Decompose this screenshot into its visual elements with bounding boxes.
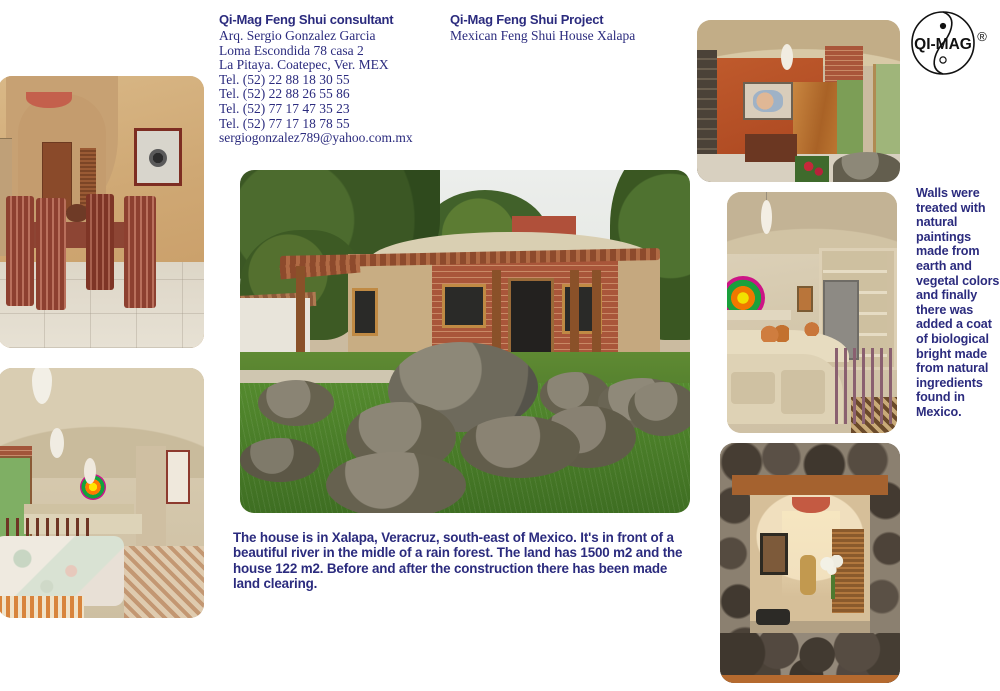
living-room-photo xyxy=(0,368,204,618)
consultant-phone-1: Tel. (52) 22 88 18 30 55 xyxy=(219,73,434,88)
house-exterior-photo xyxy=(240,170,690,513)
consultant-name: Arq. Sergio Gonzalez Garcia xyxy=(219,29,434,44)
project-heading: Qi-Mag Feng Shui Project xyxy=(450,12,680,28)
poster-page: Qi-Mag Feng Shui consultant Arq. Sergio … xyxy=(0,0,1000,691)
consultant-address-1: Loma Escondida 78 casa 2 xyxy=(219,44,434,59)
qi-mag-logo: QI-MAG ® xyxy=(908,8,994,78)
consultant-address-2: La Pitaya. Coatepec, Ver. MEX xyxy=(219,58,434,73)
qi-mag-yin-yang-icon: QI-MAG ® xyxy=(908,8,994,78)
consultant-phone-2: Tel. (52) 22 88 26 55 86 xyxy=(219,87,434,102)
walls-treatment-note: Walls were treated with natural painting… xyxy=(916,186,1000,420)
stone-archway-photo xyxy=(720,443,900,683)
dining-room-photo xyxy=(0,76,204,348)
qi-mag-logo-text: QI-MAG xyxy=(914,36,972,53)
project-subtitle: Mexican Feng Shui House Xalapa xyxy=(450,28,680,43)
consultant-contact-block: Qi-Mag Feng Shui consultant Arq. Sergio … xyxy=(219,12,434,146)
consultant-email[interactable]: sergiogonzalez789@yahoo.com.mx xyxy=(219,131,434,146)
house-description-caption: The house is in Xalapa, Veracruz, south-… xyxy=(233,530,693,592)
entry-hall-photo xyxy=(697,20,900,182)
kitchen-photo xyxy=(727,192,897,433)
consultant-heading: Qi-Mag Feng Shui consultant xyxy=(219,12,434,28)
consultant-phone-4: Tel. (52) 77 17 18 78 55 xyxy=(219,117,434,132)
consultant-phone-3: Tel. (52) 77 17 47 35 23 xyxy=(219,102,434,117)
registered-trademark-icon: ® xyxy=(977,29,987,44)
project-title-block: Qi-Mag Feng Shui Project Mexican Feng Sh… xyxy=(450,12,680,43)
